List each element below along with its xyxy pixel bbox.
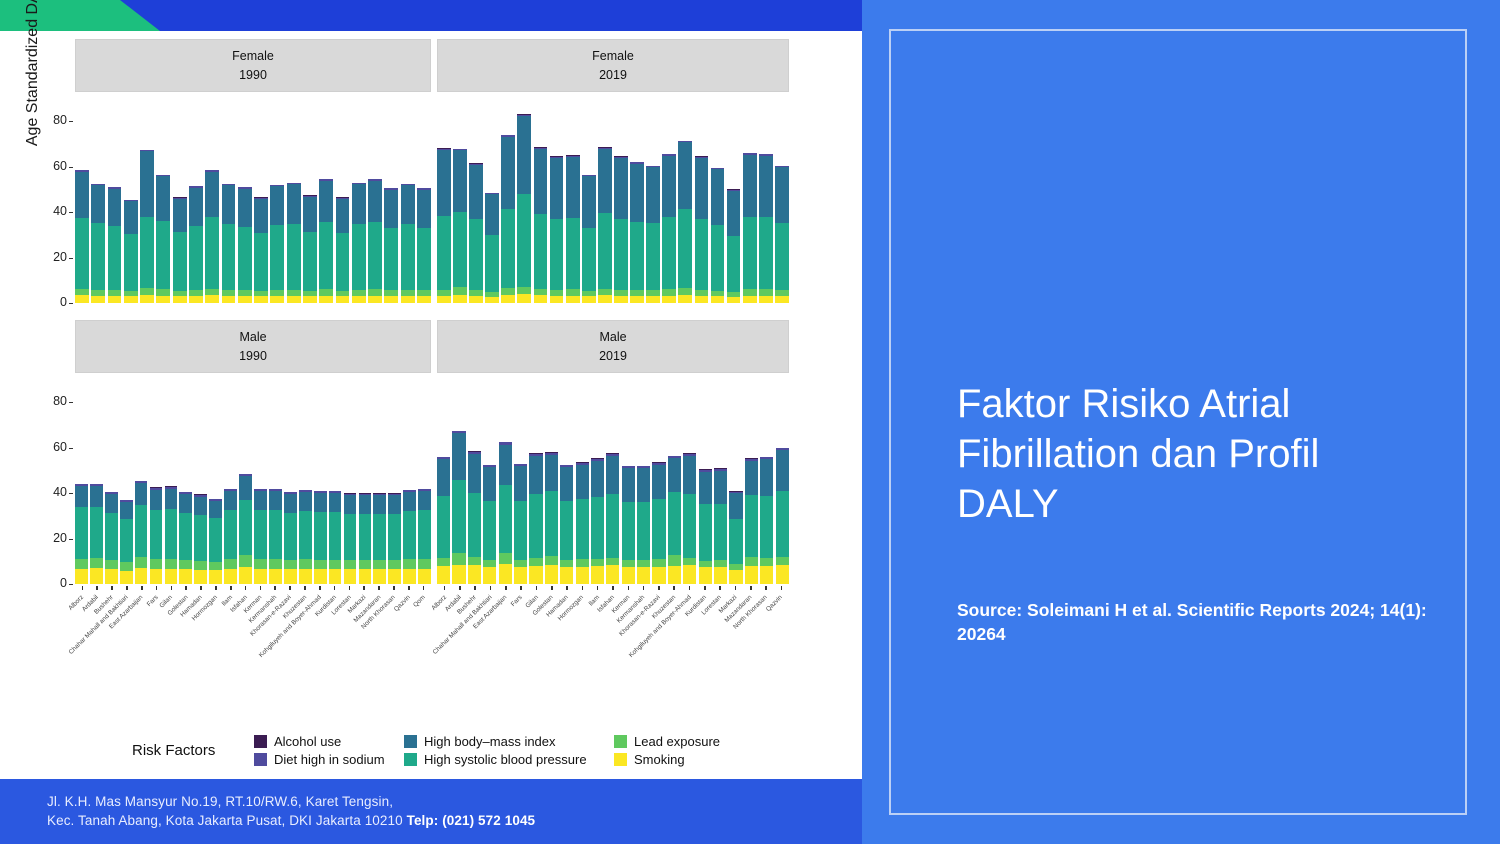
bar-segment	[120, 502, 133, 519]
bar	[401, 184, 415, 303]
bar-segment	[550, 158, 564, 219]
slide-title: Faktor Risiko Atrial Fibrillation dan Pr…	[957, 379, 1417, 529]
bar-segment	[468, 565, 481, 584]
bar	[714, 468, 727, 584]
legend-swatch	[404, 735, 417, 748]
legend-item[interactable]: High systolic blood pressure	[404, 751, 587, 768]
bar-segment	[652, 567, 665, 585]
bar-segment	[759, 156, 773, 217]
facet-label-sex: Female	[592, 47, 634, 66]
bar-segment	[514, 501, 527, 560]
x-axis-tick-mark	[597, 586, 599, 590]
bar-segment	[417, 228, 431, 291]
legend-item[interactable]: Diet high in sodium	[254, 751, 385, 768]
bar	[254, 197, 268, 303]
footer-address: Jl. K.H. Mas Mansyur No.19, RT.10/RW.6, …	[47, 792, 827, 830]
bar-segment	[401, 296, 415, 303]
x-axis-tick-mark	[96, 586, 98, 590]
bar-segment	[760, 566, 773, 584]
bar-segment	[135, 483, 148, 505]
plot-panel-female-1990	[75, 103, 431, 303]
bar	[695, 156, 709, 303]
bar-segment	[368, 181, 382, 222]
bar-segment	[270, 186, 284, 225]
bar-segment	[591, 559, 604, 567]
facet-strip-female-2019: Female2019	[437, 39, 789, 92]
y-axis-tick-label: 80	[33, 113, 67, 127]
bar-segment	[550, 296, 564, 303]
bar-segment	[566, 296, 580, 304]
bar-segment	[614, 158, 628, 219]
bar-segment	[637, 468, 650, 502]
facet-label-sex: Male	[599, 328, 626, 347]
bar	[711, 168, 725, 303]
footer-phone: Telp: (021) 572 1045	[407, 813, 536, 828]
bar-segment	[668, 458, 681, 492]
x-axis-tick-mark	[215, 586, 217, 590]
bar-segment	[760, 496, 773, 559]
bar-segment	[254, 491, 267, 511]
bar-segment	[359, 560, 372, 569]
bar	[668, 456, 681, 584]
bar-segment	[238, 189, 252, 227]
bar-segment	[637, 502, 650, 560]
bar-segment	[695, 158, 709, 219]
legend-column: High body–mass indexHigh systolic blood …	[404, 733, 587, 769]
bar-segment	[501, 137, 515, 209]
bar-segment	[745, 461, 758, 496]
y-axis-tick-label: 60	[33, 440, 67, 454]
facet-strip-female-1990: Female1990	[75, 39, 431, 92]
bar-segment	[760, 558, 773, 566]
bar-segment	[388, 514, 401, 561]
bar	[699, 469, 712, 584]
bar-segment	[179, 560, 192, 569]
bar-segment	[401, 224, 415, 290]
legend-item[interactable]: Alcohol use	[254, 733, 385, 750]
bar	[239, 474, 252, 584]
bar-segment	[189, 188, 203, 227]
bar-segment	[606, 565, 619, 584]
bar-segment	[452, 480, 465, 553]
bar-segment	[150, 569, 163, 584]
bar	[499, 442, 512, 584]
bar	[150, 487, 163, 584]
bar-segment	[319, 181, 333, 222]
y-axis-tick-mark	[69, 402, 73, 403]
bar-segment	[270, 225, 284, 290]
bar-segment	[105, 560, 118, 569]
bar-segment	[775, 296, 789, 303]
y-axis-tick-mark	[69, 539, 73, 540]
bar-segment	[90, 568, 103, 584]
bar	[591, 458, 604, 584]
bar-segment	[668, 555, 681, 566]
bar-segment	[124, 234, 138, 291]
bar-segment	[284, 513, 297, 560]
bar	[729, 491, 742, 584]
bar-segment	[91, 223, 105, 290]
bar-segment	[329, 512, 342, 560]
bar-segment	[373, 514, 386, 561]
bar-segment	[75, 295, 89, 303]
bar-segment	[135, 568, 148, 584]
bar-segment	[529, 566, 542, 584]
bar	[637, 466, 650, 584]
bar-segment	[156, 296, 170, 304]
bar-segment	[373, 495, 386, 513]
bar-segment	[582, 176, 596, 229]
x-axis-tick-mark	[378, 586, 380, 590]
bar-segment	[239, 476, 252, 500]
legend-item[interactable]: Lead exposure	[614, 733, 720, 750]
x-axis-tick-mark	[459, 586, 461, 590]
bar-segment	[437, 459, 450, 495]
bar-segment	[205, 172, 219, 218]
bar-segment	[284, 494, 297, 513]
bar	[238, 187, 252, 303]
bar	[135, 481, 148, 584]
bar	[254, 489, 267, 584]
bar-segment	[743, 296, 757, 304]
bar-segment	[150, 510, 163, 559]
bar-segment	[329, 569, 342, 584]
bar-segment	[452, 565, 465, 584]
bar-segment	[352, 184, 366, 224]
bar-segment	[194, 561, 207, 570]
bar-segment	[499, 485, 512, 553]
bar-segment	[529, 494, 542, 558]
bar	[299, 490, 312, 584]
bar-segment	[209, 562, 222, 571]
bar-segment	[591, 566, 604, 584]
x-axis-tick-mark	[566, 586, 568, 590]
bar	[352, 183, 366, 303]
bar-segment	[483, 567, 496, 584]
x-axis-tick-mark	[628, 586, 630, 590]
legend-swatch	[614, 735, 627, 748]
bar-segment	[359, 495, 372, 513]
x-axis-tick-mark	[673, 586, 675, 590]
bar-segment	[453, 150, 467, 212]
x-axis-tick-mark	[126, 586, 128, 590]
bar-segment	[745, 495, 758, 556]
bar	[314, 491, 327, 584]
slide-source-citation: Source: Soleimani H et al. Scientific Re…	[957, 598, 1427, 646]
bar-segment	[534, 214, 548, 289]
y-axis-tick-mark	[69, 303, 73, 304]
facet-label-year: 1990	[239, 66, 267, 85]
legend-swatch	[614, 753, 627, 766]
bar-segment	[150, 490, 163, 510]
x-axis-tick-mark	[82, 586, 84, 590]
legend-item[interactable]: Smoking	[614, 751, 720, 768]
bar-segment	[373, 569, 386, 584]
plot-panel-male-2019	[437, 384, 789, 584]
bar-segment	[662, 296, 676, 304]
bar	[683, 453, 696, 584]
bar-segment	[469, 296, 483, 303]
bar-segment	[224, 559, 237, 569]
legend-item[interactable]: High body–mass index	[404, 733, 587, 750]
bar	[452, 431, 465, 584]
bar-segment	[714, 471, 727, 504]
bar-segment	[598, 295, 612, 303]
bar	[344, 493, 357, 584]
bar-segment	[344, 560, 357, 569]
bar-segment	[743, 155, 757, 217]
y-axis-tick-label: 20	[33, 250, 67, 264]
bar	[284, 492, 297, 584]
x-axis-tick-mark	[490, 586, 492, 590]
bar-segment	[239, 567, 252, 585]
bar-segment	[453, 287, 467, 295]
x-axis-tick-mark	[765, 586, 767, 590]
bar-segment	[499, 564, 512, 584]
x-axis-tick-mark	[260, 586, 262, 590]
bar-segment	[468, 493, 481, 558]
bar-segment	[368, 296, 382, 304]
y-axis-tick-label: 20	[33, 531, 67, 545]
bar-segment	[485, 297, 499, 303]
bar-segment	[75, 486, 88, 507]
bar-segment	[269, 510, 282, 559]
bar-segment	[501, 288, 515, 295]
bar	[529, 453, 542, 584]
bar-segment	[224, 569, 237, 584]
x-axis-tick-mark	[658, 586, 660, 590]
bar	[534, 147, 548, 303]
x-axis-tick-mark	[304, 586, 306, 590]
x-axis-tick-mark	[423, 586, 425, 590]
bar	[743, 153, 757, 303]
bar-segment	[469, 219, 483, 289]
facet-label-sex: Male	[239, 328, 266, 347]
bar-segment	[534, 295, 548, 303]
bar-segment	[75, 218, 89, 288]
bar-segment	[514, 466, 527, 500]
bar	[140, 150, 154, 303]
bar-segment	[336, 199, 350, 233]
plot-panel-male-1990	[75, 384, 431, 584]
bar-segment	[545, 491, 558, 556]
bar-segment	[352, 224, 366, 290]
bar	[437, 148, 451, 303]
bar	[652, 462, 665, 584]
bar-segment	[630, 296, 644, 303]
bar-segment	[352, 296, 366, 303]
legend-title: Risk Factors	[132, 742, 215, 759]
bar	[179, 492, 192, 584]
bar-segment	[652, 559, 665, 566]
daly-stacked-bar-chart: Age Standardized DALY Rate Female1990Fem…	[0, 31, 862, 779]
bar-segment	[179, 569, 192, 584]
bar-segment	[727, 297, 741, 303]
bar-segment	[560, 560, 573, 567]
bar-segment	[269, 559, 282, 569]
bar-segment	[499, 553, 512, 564]
bar	[173, 197, 187, 303]
x-axis-tick-mark	[230, 586, 232, 590]
bar	[303, 195, 317, 303]
bar-segment	[453, 212, 467, 287]
bar	[359, 493, 372, 584]
bar-segment	[529, 456, 542, 494]
bar	[582, 175, 596, 303]
bar-segment	[483, 467, 496, 500]
bar-segment	[453, 295, 467, 303]
x-axis-tick-mark	[171, 586, 173, 590]
bar	[417, 188, 431, 303]
bar	[165, 486, 178, 584]
bar-segment	[135, 505, 148, 557]
facet-label-sex: Female	[232, 47, 274, 66]
bar-segment	[179, 494, 192, 513]
bar-segment	[699, 472, 712, 504]
bar-segment	[205, 295, 219, 303]
bar-segment	[637, 560, 650, 567]
bar-segment	[598, 289, 612, 296]
bar-segment	[517, 116, 531, 194]
bar-segment	[714, 560, 727, 567]
bar-segment	[417, 190, 431, 228]
bar-segment	[646, 223, 660, 290]
bar-segment	[299, 569, 312, 584]
y-axis-title: Age Standardized DALY Rate	[24, 0, 42, 206]
legend-label: Lead exposure	[634, 734, 720, 749]
plot-panel-female-2019	[437, 103, 789, 303]
bar-segment	[582, 228, 596, 291]
bar-segment	[652, 499, 665, 559]
bar-segment	[485, 235, 499, 292]
bar	[368, 179, 382, 303]
bar-segment	[483, 501, 496, 560]
y-axis-tick-mark	[69, 258, 73, 259]
bar-segment	[514, 567, 527, 584]
bar-segment	[299, 492, 312, 511]
bar-segment	[418, 559, 431, 569]
legend-swatch	[404, 753, 417, 766]
bar-segment	[576, 499, 589, 559]
bar-segment	[630, 164, 644, 222]
bar-segment	[646, 167, 660, 223]
bar	[329, 491, 342, 584]
bar-segment	[591, 497, 604, 558]
bar-segment	[336, 233, 350, 291]
slide-left-content: Age Standardized DALY Rate Female1990Fem…	[0, 0, 862, 844]
bar-segment	[678, 295, 692, 303]
bar	[469, 163, 483, 303]
bar-segment	[545, 565, 558, 584]
bar-segment	[678, 209, 692, 289]
legend-label: Smoking	[634, 752, 685, 767]
bar	[194, 494, 207, 584]
y-axis-tick-mark	[69, 448, 73, 449]
bar-segment	[630, 222, 644, 290]
bar-segment	[683, 494, 696, 558]
legend-label: High systolic blood pressure	[424, 752, 587, 767]
bar	[224, 489, 237, 584]
x-axis-tick-mark	[505, 586, 507, 590]
bar	[75, 170, 89, 303]
bar-segment	[760, 459, 773, 495]
bar-segment	[775, 223, 789, 290]
bar-segment	[729, 570, 742, 584]
bar-segment	[550, 219, 564, 289]
bar	[75, 484, 88, 584]
bar-segment	[75, 559, 88, 569]
bar-segment	[194, 515, 207, 561]
bar-segment	[344, 495, 357, 513]
bar-segment	[699, 504, 712, 561]
bar-segment	[598, 149, 612, 213]
bar-segment	[105, 569, 118, 584]
bar-segment	[403, 559, 416, 569]
bar-segment	[695, 296, 709, 303]
bar-segment	[75, 172, 89, 219]
bar-segment	[776, 491, 789, 557]
bar-segment	[683, 558, 696, 566]
bar-segment	[359, 514, 372, 561]
bar-segment	[403, 511, 416, 559]
bar	[776, 448, 789, 584]
x-axis-tick-mark	[156, 586, 158, 590]
bar-segment	[637, 567, 650, 584]
bar-segment	[344, 569, 357, 584]
bar-segment	[699, 561, 712, 568]
bar-segment	[105, 494, 118, 513]
bar-segment	[299, 559, 312, 569]
bar-segment	[606, 494, 619, 558]
x-axis-tick-mark	[319, 586, 321, 590]
bar	[483, 465, 496, 584]
bar	[373, 493, 386, 584]
bar-segment	[711, 296, 725, 303]
bar-segment	[222, 185, 236, 224]
bar-segment	[576, 567, 589, 585]
bar-segment	[314, 493, 327, 512]
x-axis-tick-mark	[111, 586, 113, 590]
bar-segment	[606, 456, 619, 494]
bar-segment	[759, 217, 773, 290]
bar-segment	[165, 559, 178, 569]
bar-segment	[591, 461, 604, 498]
bar-segment	[452, 553, 465, 565]
bar-segment	[384, 296, 398, 303]
bar-segment	[529, 558, 542, 566]
bar	[560, 465, 573, 584]
bar	[319, 179, 333, 303]
bar-segment	[150, 559, 163, 569]
bar-segment	[729, 493, 742, 518]
bar-segment	[514, 560, 527, 567]
x-axis-tick-mark	[444, 586, 446, 590]
legend-column: Alcohol useDiet high in sodium	[254, 733, 385, 769]
bar-segment	[437, 216, 451, 290]
x-axis-tick-mark	[536, 586, 538, 590]
bar-segment	[90, 507, 103, 558]
bar-segment	[388, 569, 401, 584]
bar	[598, 147, 612, 303]
bar-segment	[239, 500, 252, 556]
bar-segment	[319, 222, 333, 289]
bar-segment	[90, 486, 103, 507]
bar-segment	[368, 222, 382, 289]
bar	[517, 114, 531, 303]
bar	[209, 499, 222, 584]
bar-segment	[776, 557, 789, 565]
bar-segment	[269, 491, 282, 511]
